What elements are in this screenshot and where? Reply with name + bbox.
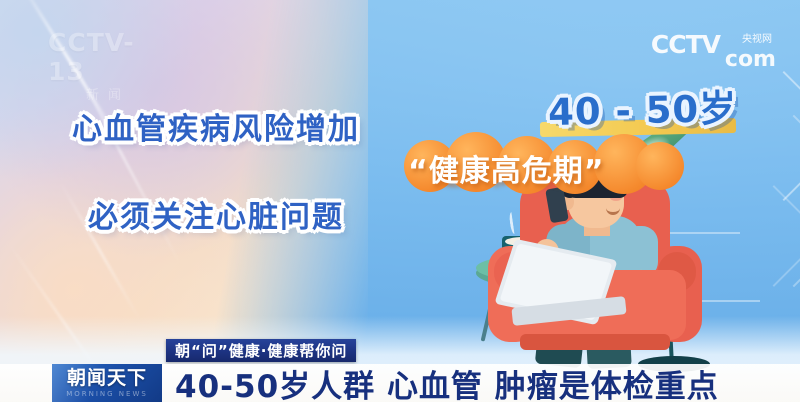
segment-title-text: 朝“问”健康·健康帮你问 — [175, 340, 347, 361]
callout-blob — [636, 142, 684, 190]
overlay-line-1: 心血管疾病风险增加 — [72, 104, 360, 148]
channel-watermark-name: CCTV-13 — [48, 28, 168, 86]
network-logo-domain: com — [725, 49, 776, 71]
armchair-base — [520, 334, 670, 350]
steam-wisp — [508, 212, 517, 235]
channel-watermark-subtitle: 新闻 — [48, 84, 168, 103]
overlay-line-2: 必须关注心脏问题 — [88, 192, 344, 236]
channel-watermark: CCTV-13 新闻 — [48, 28, 168, 74]
program-badge: 朝闻天下 MORNING NEWS — [52, 364, 162, 402]
broadcast-screenshot: CCTV-13 新闻 CCTV com 央视网 心血管疾病风险增加 必须关注心脏… — [0, 0, 800, 402]
program-badge-english: MORNING NEWS — [66, 390, 148, 398]
network-logo-chinese: 央视网 — [742, 30, 772, 45]
callout-text: “健康高危期” — [408, 146, 604, 190]
age-banner-text: 40 - 50岁 — [547, 78, 737, 136]
network-logo: CCTV com 央视网 — [651, 32, 776, 72]
headline-text: 40-50岁人群 心血管 肿瘤是体检重点 — [175, 365, 719, 402]
segment-title-bar: 朝“问”健康·健康帮你问 — [166, 339, 356, 362]
program-badge-chinese: 朝闻天下 — [67, 369, 147, 388]
